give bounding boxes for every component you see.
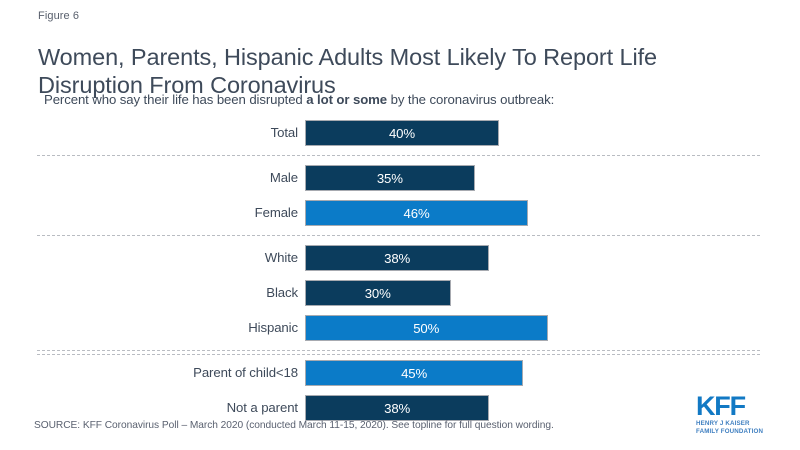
bar-track: 38%: [305, 245, 489, 271]
bar-track: 38%: [305, 395, 489, 421]
bar-category-label: Not a parent: [60, 395, 298, 421]
bar-value-label: 50%: [306, 316, 547, 342]
figure-label: Figure 6: [38, 10, 79, 22]
bar-category-label: Parent of child<18: [60, 360, 298, 386]
bar-rect[interactable]: 45%: [305, 360, 523, 386]
subtitle-suffix: by the coronavirus outbreak:: [387, 92, 554, 107]
bar-rect[interactable]: 46%: [305, 200, 528, 226]
bar-track: 45%: [305, 360, 523, 386]
bar-value-label: 38%: [306, 246, 488, 272]
bar-category-label: White: [60, 245, 298, 271]
group-divider: [37, 350, 760, 351]
bar-rect[interactable]: 35%: [305, 165, 475, 191]
kff-logo-line2: FAMILY FOUNDATION: [696, 428, 780, 436]
kff-logo: KFF HENRY J KAISER FAMILY FOUNDATION: [696, 393, 780, 436]
kff-logo-line1: HENRY J KAISER: [696, 420, 780, 428]
bar-rect[interactable]: 40%: [305, 120, 499, 146]
bar-category-label: Male: [60, 165, 298, 191]
bar-track: 50%: [305, 315, 548, 341]
subtitle-emphasis: a lot or some: [306, 92, 387, 107]
kff-wordmark: KFF: [696, 393, 780, 420]
bar-track: 40%: [305, 120, 499, 146]
bar-value-label: 40%: [306, 121, 498, 147]
group-divider: [37, 155, 760, 156]
bar-value-label: 38%: [306, 396, 488, 422]
source-note: SOURCE: KFF Coronavirus Poll – March 202…: [34, 420, 554, 431]
bar-value-label: 46%: [306, 201, 527, 227]
bar-value-label: 45%: [306, 361, 522, 387]
bar-track: 35%: [305, 165, 475, 191]
bar-track: 30%: [305, 280, 451, 306]
bar-category-label: Hispanic: [60, 315, 298, 341]
group-divider: [37, 235, 760, 236]
bar-category-label: Female: [60, 200, 298, 226]
bar-category-label: Black: [60, 280, 298, 306]
bar-value-label: 30%: [306, 281, 450, 307]
group-divider: [37, 354, 760, 355]
page-title: Women, Parents, Hispanic Adults Most Lik…: [38, 43, 768, 99]
bar-rect[interactable]: 38%: [305, 245, 489, 271]
bar-rect[interactable]: 50%: [305, 315, 548, 341]
subtitle-prefix: Percent who say their life has been disr…: [44, 92, 306, 107]
chart-subtitle: Percent who say their life has been disr…: [44, 92, 554, 107]
bar-category-label: Total: [60, 120, 298, 146]
bar-chart-plot-area: Total40%Male35%Female46%White38%Black30%…: [0, 115, 800, 405]
bar-track: 46%: [305, 200, 528, 226]
bar-rect[interactable]: 38%: [305, 395, 489, 421]
bar-value-label: 35%: [306, 166, 474, 192]
bar-rect[interactable]: 30%: [305, 280, 451, 306]
